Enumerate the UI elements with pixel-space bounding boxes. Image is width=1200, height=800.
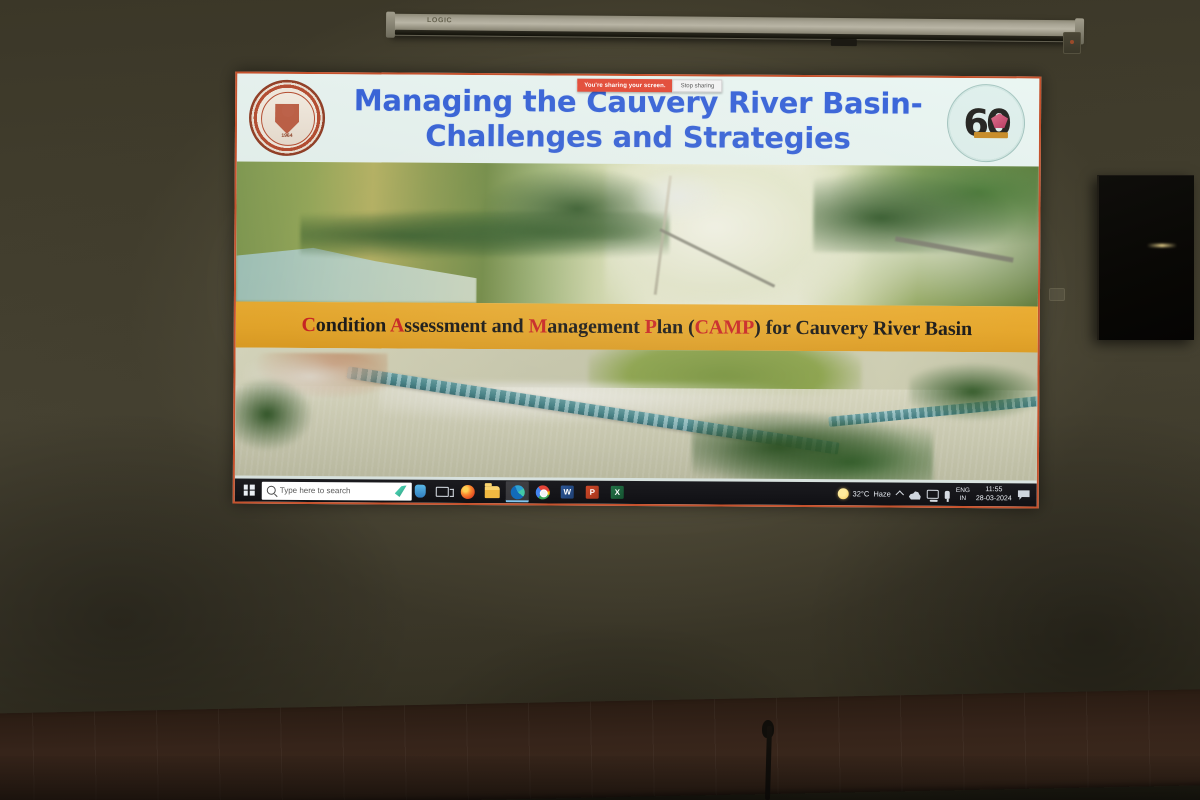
presentation-slide[interactable]: You're sharing your screen. Stop sharing… [233,72,1042,509]
photo-trees-center [692,412,933,481]
roller-slot [395,30,1075,42]
taskbar-app-file-explorer[interactable] [481,481,504,502]
photo-treeline-right [814,165,1039,253]
start-button[interactable] [238,480,260,501]
camp-text-segment-3: ssessment and [404,314,528,337]
firefox-icon [460,484,474,498]
sun-icon [838,488,849,499]
weather-condition: Haze [873,489,891,498]
clock-date: 28-03-2024 [976,495,1012,504]
network-icon[interactable] [927,490,939,499]
jubilee-ribbon [974,132,1008,138]
nit-seal-icon: 1964 [249,80,325,156]
windows-logo-icon [243,485,254,496]
camp-subtitle-text: Condition Assessment and Management Plan… [301,313,972,340]
aerial-photo-river-top [236,162,1039,307]
search-input[interactable]: Type here to search [262,481,412,500]
clock[interactable]: 11:55 28-03-2024 [976,486,1012,503]
taskbar-app-microsoft-powerpoint[interactable]: P [581,482,604,503]
share-banner-message: You're sharing your screen. [577,79,672,93]
projection-area: You're sharing your screen. Stop sharing… [233,72,1042,509]
slide-title-line-2: Challenges and Strategies [343,118,933,157]
roller-brand-label: LOGIC [427,17,452,24]
action-center-icon[interactable] [1018,490,1030,500]
projector-screen-roller: LOGIC [391,14,1079,43]
language-region: IN [956,494,970,502]
word-icon: W [561,486,574,499]
camp-text-segment-0: C [301,313,315,335]
onedrive-icon[interactable] [909,489,921,500]
weather-widget[interactable]: 32°C Haze [838,488,891,499]
room-scene: LOGIC You're sharing your screen. Stop s… [0,0,1200,800]
diamond-jubilee-logo: 60 [939,80,1036,165]
roller-bracket [831,39,857,46]
camp-text-segment-8: CAMP [695,316,755,338]
camp-text-segment-1: ondition [316,314,390,336]
search-placeholder: Type here to search [280,486,351,495]
wall-socket-plate-lower [1049,288,1065,301]
system-tray: 32°C Haze ENG IN 11:55 28-03-2024 [838,482,1034,506]
taskbar-app-microsoft-excel[interactable]: X [606,482,629,503]
show-hidden-icons-chevron[interactable] [896,490,904,498]
taskbar-app-firefox[interactable] [456,481,479,502]
pen-workspace-icon[interactable] [415,485,426,498]
taskbar-app-google-chrome[interactable] [531,481,554,502]
wall-mounted-display [1097,175,1194,340]
nit-trichy-logo: 1964 [241,76,338,161]
camp-text-segment-5: anagement [547,315,644,338]
excel-icon: X [611,486,624,499]
roller-end-cap-left [386,12,395,38]
screen-share-banner: You're sharing your screen. Stop sharing [577,79,722,93]
photo-village [629,168,726,225]
taskbar-app-microsoft-word[interactable]: W [556,482,579,503]
camp-text-segment-9: ) for Cauvery River Basin [754,316,972,339]
stop-sharing-button[interactable]: Stop sharing [673,79,723,92]
camp-text-segment-7: lan ( [657,316,695,338]
taskbar-app-icons: W P X [431,481,629,503]
taskbar-app-microsoft-edge[interactable] [506,481,529,502]
chrome-icon [535,485,549,499]
photo-trees-left [235,376,316,453]
nit-seal-shield [275,104,299,134]
powerpoint-icon: P [586,486,599,499]
volume-icon[interactable] [945,490,950,498]
camp-text-segment-6: P [645,316,657,338]
floor-shadow [0,756,1200,800]
display-glint [1147,244,1177,247]
clock-time: 11:55 [976,486,1012,495]
aerial-photo-barrage-bottom [235,348,1038,481]
camp-text-segment-4: M [528,315,547,337]
nit-seal-year: 1964 [249,133,325,139]
file-explorer-icon [485,486,500,498]
task-view-icon [436,486,449,496]
language-indicator[interactable]: ENG IN [956,487,970,502]
photo-trees-right [909,359,1038,421]
slide-title: Managing the Cauvery River Basin- Challe… [337,83,939,157]
camp-text-segment-2: A [390,314,404,336]
weather-temperature: 32°C [853,489,870,498]
cortana-icon[interactable] [395,485,407,497]
wall-socket-indicator [1070,40,1074,44]
language-code: ENG [956,487,970,495]
jubilee-seal-icon: 60 [947,84,1025,162]
search-icon [267,486,276,495]
task-view-button[interactable] [431,481,454,502]
edge-icon [510,485,524,499]
camp-subtitle-band: Condition Assessment and Management Plan… [236,302,1038,353]
windows-taskbar[interactable]: Type here to search [235,479,1037,507]
